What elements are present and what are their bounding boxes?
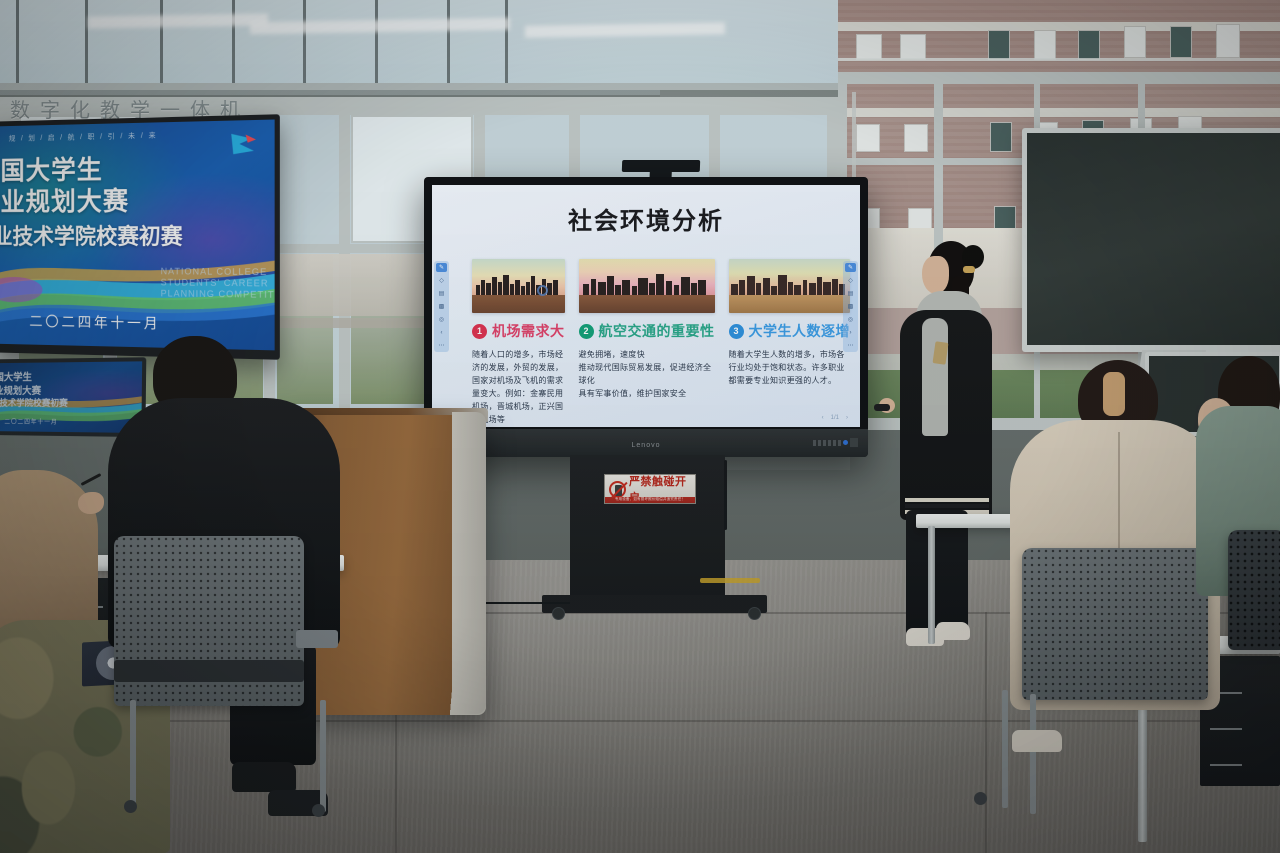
screenshot-icon[interactable]: ▩ bbox=[436, 302, 447, 311]
chair-leg bbox=[1002, 690, 1008, 808]
display-brand-label: Lenovo bbox=[632, 442, 661, 449]
pen-icon[interactable]: ✎ bbox=[436, 263, 447, 272]
display-cable bbox=[724, 460, 727, 530]
slide-heading-2: 航空交通的重要性 bbox=[599, 321, 715, 341]
chair-caster bbox=[974, 792, 987, 805]
collapse-icon-right[interactable]: › bbox=[845, 328, 856, 337]
display-indicator-row bbox=[813, 438, 858, 447]
desk-leg bbox=[928, 526, 935, 644]
secondary-line1: 全国大学生 bbox=[0, 369, 32, 384]
clicker-remote[interactable] bbox=[874, 404, 890, 411]
slide-headline-2: 2 航空交通的重要性 bbox=[579, 321, 715, 341]
eraser-icon[interactable]: ◇ bbox=[436, 276, 447, 285]
hair-claw-clip-icon bbox=[1103, 372, 1125, 416]
skyline-image-1 bbox=[472, 259, 565, 313]
cart-tape-strip bbox=[700, 578, 760, 583]
slide-headline-3: 3 大学生人数逐增 bbox=[729, 321, 851, 341]
save-icon-right[interactable]: ▤ bbox=[845, 289, 856, 298]
slide-body-2: 避免拥堵，速度快 推动现代国际贸易发展，促进经济全球化 具有军事价值，维护国家安… bbox=[579, 348, 715, 400]
screenshot-icon-right[interactable]: ▩ bbox=[845, 302, 856, 311]
shoe bbox=[1012, 730, 1062, 752]
secondary-line3: 职业技术学院校赛初赛 bbox=[0, 396, 68, 409]
annotation-toolbar-right[interactable]: ✎ ◇ ▤ ▩ ◎ › ⋯ bbox=[843, 261, 858, 352]
poster-monitor-screen: 规 / 划 / 启 / 航 / 职 / 引 / 未 / 来 全国大学生 职业规划… bbox=[0, 120, 275, 351]
camera-bar-icon bbox=[622, 160, 700, 172]
display-bezel: Lenovo bbox=[424, 429, 868, 457]
secondary-date: 二〇二四年十一月 bbox=[4, 417, 57, 426]
settings-icon-right[interactable]: ◎ bbox=[845, 315, 856, 324]
slide-headline-1: 1 机场需求大 bbox=[472, 321, 565, 341]
poster-line2: 职业规划大赛 bbox=[0, 181, 129, 219]
warning-sign: 严禁触碰开启 专用设备，如有损坏照价赔偿并追究责任！ bbox=[604, 474, 696, 504]
more-icon[interactable]: ⋯ bbox=[436, 341, 447, 350]
presenter-face bbox=[922, 256, 949, 294]
secondary-monitor-screen: 全国大学生 职业规划大赛 职业技术学院校赛初赛 二〇二四年十一月 bbox=[0, 361, 142, 433]
shoe bbox=[232, 762, 296, 792]
bullet-number-1: 1 bbox=[472, 324, 487, 339]
more-icon-right[interactable]: ⋯ bbox=[845, 341, 856, 350]
slide-heading-1: 机场需求大 bbox=[492, 321, 565, 341]
poster-line3: 职业技术学院校赛初赛 bbox=[0, 219, 183, 251]
bullet-number-2: 2 bbox=[579, 324, 594, 339]
right-display-screen bbox=[1027, 133, 1280, 345]
chair-arm bbox=[296, 630, 338, 648]
poster-tagline: 规 / 划 / 启 / 航 / 职 / 引 / 未 / 来 bbox=[9, 130, 158, 143]
slide-columns: 1 机场需求大 随着人口的增多，市场经济的发展，外贸的发展，国家对机场及飞机的需… bbox=[472, 259, 820, 426]
exterior-railing bbox=[838, 58, 1280, 61]
ir-sensor-icon bbox=[850, 438, 858, 447]
hand bbox=[78, 492, 104, 514]
bullet-number-3: 3 bbox=[729, 324, 744, 339]
poster-date: 二〇二四年十一月 bbox=[29, 311, 160, 333]
eraser-icon-right[interactable]: ◇ bbox=[845, 276, 856, 285]
clerestory-windows bbox=[0, 0, 845, 90]
pen-icon-right[interactable]: ✎ bbox=[845, 263, 856, 272]
compass-icon bbox=[537, 285, 548, 296]
jacket-stripe bbox=[905, 504, 989, 508]
chair-leg bbox=[320, 700, 326, 812]
skyline-image-3 bbox=[729, 259, 851, 313]
main-display[interactable]: 社会环境分析 bbox=[424, 177, 868, 457]
presenter-shoe bbox=[936, 622, 970, 640]
competition-logo-icon bbox=[227, 130, 258, 157]
hair-clip-icon bbox=[963, 266, 975, 273]
poster-english-title: NATIONAL COLLEGE STUDENTS' CAREER PLANNI… bbox=[161, 266, 275, 301]
chair-leg bbox=[1030, 694, 1036, 814]
jacket-stripe bbox=[905, 498, 989, 502]
chair-seat-band bbox=[114, 660, 304, 682]
cart-caster bbox=[552, 607, 565, 620]
collapse-icon[interactable]: ‹ bbox=[436, 328, 447, 337]
podium-side-edge bbox=[452, 412, 486, 714]
skyline-image-2 bbox=[579, 259, 715, 313]
cart-base bbox=[542, 595, 767, 613]
presenter-legs bbox=[906, 510, 968, 640]
chair-backrest[interactable] bbox=[1022, 548, 1208, 700]
slide-body-3: 随着大学生人数的增多，市场各行业均处于饱和状态。许多职业都需要专业知识更强的人才… bbox=[729, 348, 851, 387]
classroom-scene: 数字化教学一体机 数字化教学 bbox=[0, 0, 1280, 853]
slide-page-indicator: 1/1 bbox=[831, 415, 839, 421]
secondary-line2: 职业规划大赛 bbox=[0, 382, 41, 397]
chair-backrest[interactable] bbox=[1228, 530, 1280, 650]
save-icon[interactable]: ▤ bbox=[436, 289, 447, 298]
cart-caster bbox=[748, 607, 761, 620]
warning-sign-subtext: 专用设备，如有损坏照价赔偿并追究责任！ bbox=[605, 497, 695, 502]
presentation-slide: 社会环境分析 bbox=[432, 185, 860, 427]
slide-column-1: 1 机场需求大 随着人口的增多，市场经济的发展，外贸的发展，国家对机场及飞机的需… bbox=[472, 259, 565, 426]
annotation-toolbar-left[interactable]: ✎ ◇ ▤ ▩ ◎ ‹ ⋯ bbox=[434, 261, 449, 352]
chair-leg bbox=[130, 700, 136, 810]
slide-title: 社会环境分析 bbox=[432, 201, 860, 236]
slide-next-button[interactable]: › bbox=[846, 415, 848, 421]
poster-monitor-left[interactable]: 规 / 划 / 启 / 航 / 职 / 引 / 未 / 来 全国大学生 职业规划… bbox=[0, 114, 280, 360]
no-touch-icon bbox=[609, 481, 626, 498]
right-display-panel[interactable] bbox=[1022, 128, 1280, 352]
slide-heading-3: 大学生人数逐增 bbox=[749, 321, 851, 341]
chair-caster bbox=[312, 804, 325, 817]
slide-pager[interactable]: ‹ 1/1 › bbox=[822, 415, 848, 421]
slide-column-2: 2 航空交通的重要性 避免拥堵，速度快 推动现代国际贸易发展，促进经济全球化 具… bbox=[579, 259, 715, 426]
slide-prev-button[interactable]: ‹ bbox=[822, 415, 824, 421]
chair-caster bbox=[124, 800, 137, 813]
power-led-icon bbox=[843, 440, 848, 445]
slide-column-3: 3 大学生人数逐增 随着大学生人数的增多，市场各行业均处于饱和状态。许多职业都需… bbox=[729, 259, 851, 426]
presenter-hoodie-front bbox=[922, 318, 948, 436]
settings-icon[interactable]: ◎ bbox=[436, 315, 447, 324]
